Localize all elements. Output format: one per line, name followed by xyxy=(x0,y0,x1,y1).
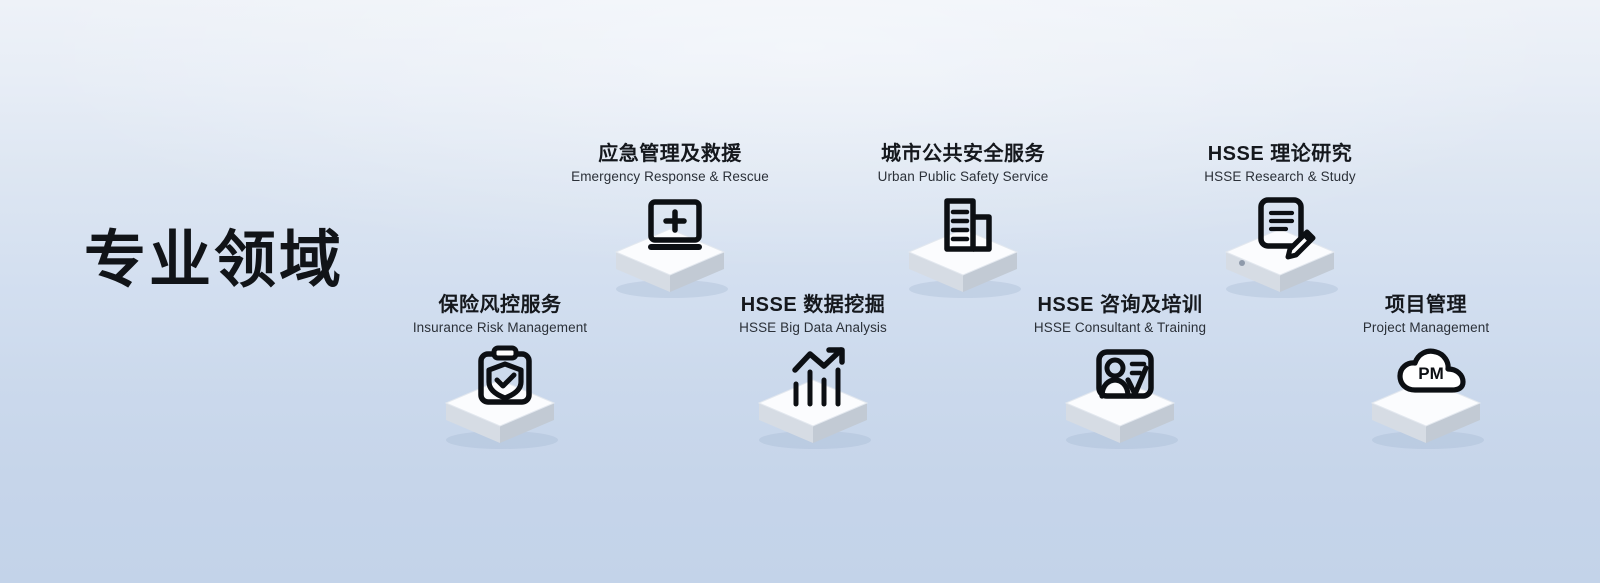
field-item-emergency-response[interactable]: 应急管理及救援 Emergency Response & Rescue xyxy=(520,143,820,301)
field-item-hsse-consultant[interactable]: HSSE 咨询及培训 HSSE Consultant & Training xyxy=(970,294,1270,452)
field-artwork xyxy=(663,342,963,452)
field-label-cn: 保险风控服务 xyxy=(350,294,650,317)
field-label-en: HSSE Big Data Analysis xyxy=(663,320,963,336)
field-label-cn: HSSE 理论研究 xyxy=(1130,143,1430,166)
field-artwork xyxy=(350,342,650,452)
field-label-cn: HSSE 数据挖掘 xyxy=(663,294,963,317)
cloud-pm-icon: PM xyxy=(1394,344,1468,418)
monitor-plus-icon xyxy=(638,193,712,267)
field-item-hsse-research[interactable]: HSSE 理论研究 HSSE Research & Study xyxy=(1130,143,1430,301)
field-label-cn: 项目管理 xyxy=(1276,294,1576,317)
person-card-check-icon xyxy=(1088,344,1162,418)
field-item-urban-public-safety[interactable]: 城市公共安全服务 Urban Public Safety Service xyxy=(813,143,1113,301)
field-label-en: Emergency Response & Rescue xyxy=(520,169,820,185)
field-label-en: Insurance Risk Management xyxy=(350,320,650,336)
field-item-hsse-big-data[interactable]: HSSE 数据挖掘 HSSE Big Data Analysis xyxy=(663,294,963,452)
field-label-cn: HSSE 咨询及培训 xyxy=(970,294,1270,317)
cloud-pm-label: PM xyxy=(1418,364,1444,383)
field-artwork: PM xyxy=(1276,342,1576,452)
bar-chart-arrow-icon xyxy=(781,344,855,418)
field-artwork xyxy=(813,191,1113,301)
page-title: 专业领域 xyxy=(84,228,344,293)
buildings-icon xyxy=(931,193,1005,267)
field-label-en: Urban Public Safety Service xyxy=(813,169,1113,185)
field-artwork xyxy=(970,342,1270,452)
field-artwork xyxy=(520,191,820,301)
clipboard-shield-check-icon xyxy=(468,344,542,418)
professional-fields-banner: 专业领域 应急管理及救援 Emergency Response & Rescue xyxy=(0,0,1600,583)
field-label-en: HSSE Research & Study xyxy=(1130,169,1430,185)
field-label-cn: 应急管理及救援 xyxy=(520,143,820,166)
field-artwork xyxy=(1130,191,1430,301)
field-label-cn: 城市公共安全服务 xyxy=(813,143,1113,166)
field-item-project-management[interactable]: 项目管理 Project Management PM xyxy=(1276,294,1576,452)
field-label-en: HSSE Consultant & Training xyxy=(970,320,1270,336)
document-pencil-icon xyxy=(1248,193,1322,267)
field-item-insurance-risk[interactable]: 保险风控服务 Insurance Risk Management xyxy=(350,294,650,452)
field-label-en: Project Management xyxy=(1276,320,1576,336)
